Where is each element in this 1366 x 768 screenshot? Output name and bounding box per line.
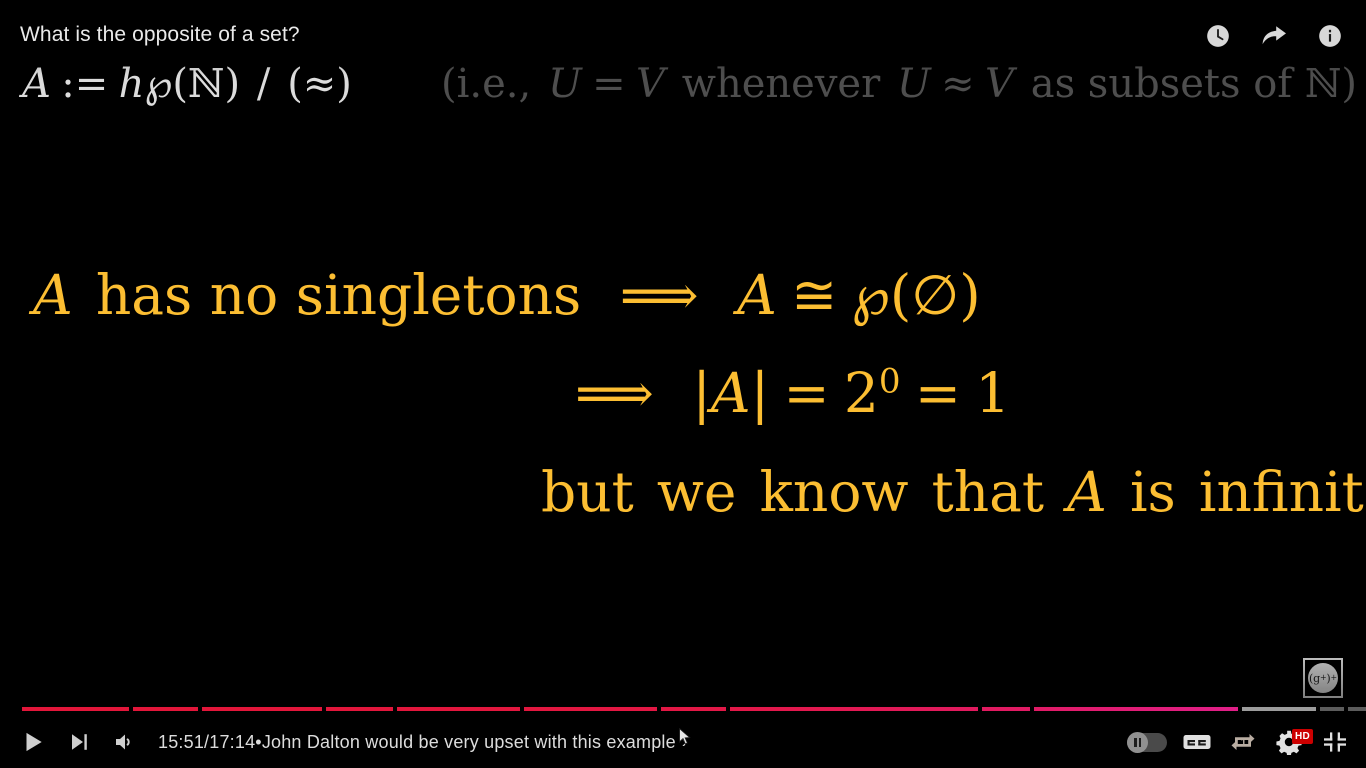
autoplay-knob-pause-icon bbox=[1127, 732, 1148, 753]
progress-chapter-segment[interactable] bbox=[22, 707, 129, 711]
derivation-line-3: butweknowthatAisinfinite! bbox=[541, 455, 1366, 529]
subtitles-cc-button[interactable] bbox=[1174, 719, 1220, 765]
progress-played bbox=[730, 707, 978, 711]
progress-played bbox=[397, 707, 520, 711]
share-icon[interactable] bbox=[1256, 18, 1292, 54]
progress-bar[interactable] bbox=[0, 707, 1366, 713]
loop-one-icon[interactable]: 1 bbox=[1220, 719, 1266, 765]
play-button[interactable] bbox=[10, 719, 56, 765]
autoplay-track bbox=[1127, 733, 1167, 752]
player-controls: 15:51 / 17:14 • John Dalton would be ver… bbox=[0, 716, 1366, 768]
watermark-logo-text: (g+)+ bbox=[1308, 663, 1338, 693]
chapter-title[interactable]: John Dalton would be very upset with thi… bbox=[262, 732, 676, 753]
progress-played bbox=[524, 707, 657, 711]
progress-chapter-segment[interactable] bbox=[202, 707, 322, 711]
progress-buffered bbox=[1242, 707, 1316, 711]
progress-chapter-segment[interactable] bbox=[397, 707, 520, 711]
chapter-chevron-icon[interactable]: › bbox=[682, 732, 688, 752]
progress-chapter-segment[interactable] bbox=[1034, 707, 1238, 711]
volume-button[interactable] bbox=[102, 719, 148, 765]
watch-later-icon[interactable] bbox=[1200, 18, 1236, 54]
progress-chapter-segment[interactable] bbox=[730, 707, 978, 711]
channel-watermark[interactable]: (g+)+ bbox=[1303, 658, 1343, 698]
definition-equation-rhs: (i.e.,U=VwheneverU≈Vas subsets of ℕ) bbox=[441, 58, 1357, 110]
time-and-chapter-display: 15:51 / 17:14 • John Dalton would be ver… bbox=[158, 732, 688, 753]
quality-hd-badge: HD bbox=[1292, 729, 1313, 744]
progress-played bbox=[202, 707, 322, 711]
settings-button[interactable]: HD bbox=[1266, 719, 1312, 765]
derivation-line-2: ⟹|A|=20=1 bbox=[575, 356, 1010, 430]
progress-chapter-segment[interactable] bbox=[1242, 707, 1316, 711]
time-current: 15:51 bbox=[158, 732, 204, 753]
video-title: What is the opposite of a set? bbox=[20, 20, 300, 50]
progress-chapter-segment[interactable] bbox=[133, 707, 198, 711]
autoplay-toggle[interactable] bbox=[1120, 719, 1174, 765]
progress-played bbox=[982, 707, 1030, 711]
next-video-button[interactable] bbox=[56, 719, 102, 765]
video-frame-content: A:=ℎ℘(ℕ)/(≈) (i.e.,U=VwheneverU≈Vas subs… bbox=[0, 0, 1366, 768]
svg-text:1: 1 bbox=[1241, 737, 1247, 748]
progress-chapter-segment[interactable] bbox=[326, 707, 393, 711]
progress-played bbox=[133, 707, 198, 711]
progress-chapter-segment[interactable] bbox=[524, 707, 657, 711]
player-controls-right: 1 HD bbox=[1120, 716, 1358, 768]
progress-chapter-segment[interactable] bbox=[982, 707, 1030, 711]
player-controls-left: 15:51 / 17:14 • John Dalton would be ver… bbox=[0, 719, 688, 765]
time-total: 17:14 bbox=[209, 732, 255, 753]
progress-played bbox=[326, 707, 393, 711]
top-right-icon-group bbox=[1200, 18, 1348, 54]
progress-played bbox=[1034, 707, 1238, 711]
definition-equation-lhs: A:=ℎ℘(ℕ)/(≈) bbox=[22, 58, 352, 110]
exit-fullscreen-icon[interactable] bbox=[1312, 719, 1358, 765]
progress-chapter-segment[interactable] bbox=[1348, 707, 1366, 711]
progress-chapter-segment[interactable] bbox=[1320, 707, 1344, 711]
progress-played bbox=[661, 707, 726, 711]
progress-chapter-segment[interactable] bbox=[661, 707, 726, 711]
info-icon[interactable] bbox=[1312, 18, 1348, 54]
video-player: A:=ℎ℘(ℕ)/(≈) (i.e.,U=VwheneverU≈Vas subs… bbox=[0, 0, 1366, 768]
derivation-line-1: Ahas no singletons⟹A≅℘(∅) bbox=[33, 258, 981, 332]
progress-played bbox=[22, 707, 129, 711]
